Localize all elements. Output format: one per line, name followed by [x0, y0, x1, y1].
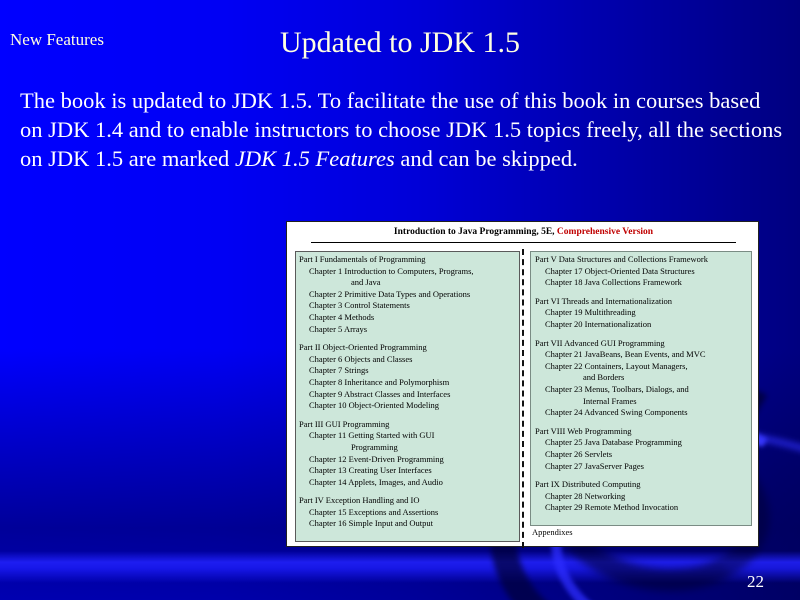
toc-chapter-item: Chapter 20 Internationalization [545, 319, 748, 331]
toc-part-spacer [535, 331, 748, 338]
toc-chapter-item: Chapter 2 Primitive Data Types and Opera… [309, 289, 516, 301]
toc-chapter-item: Chapter 25 Java Database Programming [545, 437, 748, 449]
toc-chapter-item: and Borders [583, 372, 748, 384]
toc-part-heading: Part I Fundamentals of Programming [299, 254, 516, 266]
toc-part-heading: Part II Object-Oriented Programming [299, 342, 516, 354]
slide-page-number: 22 [747, 572, 764, 592]
book-title-main: Introduction to Java Programming, 5E, [394, 227, 555, 237]
toc-chapter-item: Chapter 3 Control Statements [309, 300, 516, 312]
toc-chapter-item: Chapter 8 Inheritance and Polymorphism [309, 377, 516, 389]
toc-part-spacer [299, 412, 516, 419]
toc-chapter-item: and Java [351, 277, 516, 289]
toc-part-heading: Part VII Advanced GUI Programming [535, 338, 748, 350]
toc-part-spacer [535, 419, 748, 426]
toc-chapter-item: Chapter 23 Menus, Toolbars, Dialogs, and [545, 384, 748, 396]
toc-chapter-item: Chapter 5 Arrays [309, 324, 516, 336]
toc-chapter-item: Chapter 21 JavaBeans, Bean Events, and M… [545, 349, 748, 361]
toc-chapter-item: Chapter 1 Introduction to Computers, Pro… [309, 266, 516, 278]
slide-kicker-label: New Features [10, 30, 104, 50]
book-contents-card: Introduction to Java Programming, 5E, Co… [286, 221, 759, 547]
toc-chapter-item: Chapter 17 Object-Oriented Data Structur… [545, 266, 748, 278]
toc-part-heading: Part VI Threads and Internationalization [535, 296, 748, 308]
toc-column-divider [522, 249, 524, 548]
toc-chapter-item: Chapter 7 Strings [309, 365, 516, 377]
book-title: Introduction to Java Programming, 5E, Co… [287, 226, 760, 239]
toc-part-heading: Part III GUI Programming [299, 419, 516, 431]
toc-part-heading: Part IV Exception Handling and IO [299, 495, 516, 507]
background-highlight-band [0, 551, 800, 583]
toc-chapter-item: Chapter 14 Applets, Images, and Audio [309, 477, 516, 489]
toc-chapter-item: Chapter 13 Creating User Interfaces [309, 465, 516, 477]
presentation-slide: New Features Updated to JDK 1.5 The book… [0, 0, 800, 600]
toc-chapter-item: Chapter 10 Object-Oriented Modeling [309, 400, 516, 412]
toc-chapter-item: Chapter 22 Containers, Layout Managers, [545, 361, 748, 373]
toc-chapter-item: Chapter 4 Methods [309, 312, 516, 324]
toc-chapter-item: Chapter 29 Remote Method Invocation [545, 502, 748, 514]
toc-part-spacer [299, 335, 516, 342]
toc-chapter-item: Chapter 9 Abstract Classes and Interface… [309, 389, 516, 401]
toc-chapter-item: Chapter 6 Objects and Classes [309, 354, 516, 366]
toc-chapter-item: Chapter 16 Simple Input and Output [309, 518, 516, 530]
toc-chapter-item: Chapter 12 Event-Driven Programming [309, 454, 516, 466]
toc-chapter-item: Chapter 18 Java Collections Framework [545, 277, 748, 289]
page-title: Updated to JDK 1.5 [200, 26, 600, 60]
toc-chapter-item: Internal Frames [583, 396, 748, 408]
book-title-edition-accent: Comprehensive Version [557, 227, 653, 237]
toc-part-heading: Part V Data Structures and Collections F… [535, 254, 748, 266]
toc-part-spacer [535, 289, 748, 296]
toc-chapter-item: Chapter 27 JavaServer Pages [545, 461, 748, 473]
toc-part-spacer [535, 472, 748, 479]
toc-chapter-item: Chapter 19 Multithreading [545, 307, 748, 319]
toc-chapter-item: Programming [351, 442, 516, 454]
toc-chapter-item: Chapter 15 Exceptions and Assertions [309, 507, 516, 519]
toc-part-heading: Part VIII Web Programming [535, 426, 748, 438]
body-text-emphasis: JDK 1.5 Features [235, 146, 395, 171]
toc-chapter-item: Chapter 26 Servlets [545, 449, 748, 461]
toc-column-left: Part I Fundamentals of ProgrammingChapte… [295, 251, 520, 542]
toc-chapter-item: Chapter 28 Networking [545, 491, 748, 503]
toc-column-right: Part V Data Structures and Collections F… [530, 251, 752, 526]
toc-appendixes-label: Appendixes [532, 527, 573, 538]
toc-part-spacer [299, 488, 516, 495]
toc-chapter-item: Chapter 11 Getting Started with GUI [309, 430, 516, 442]
body-text-tail: and can be skipped. [395, 146, 578, 171]
book-title-divider [311, 242, 736, 243]
toc-part-heading: Part IX Distributed Computing [535, 479, 748, 491]
toc-chapter-item: Chapter 24 Advanced Swing Components [545, 407, 748, 419]
slide-body-paragraph: The book is updated to JDK 1.5. To facil… [20, 86, 788, 173]
